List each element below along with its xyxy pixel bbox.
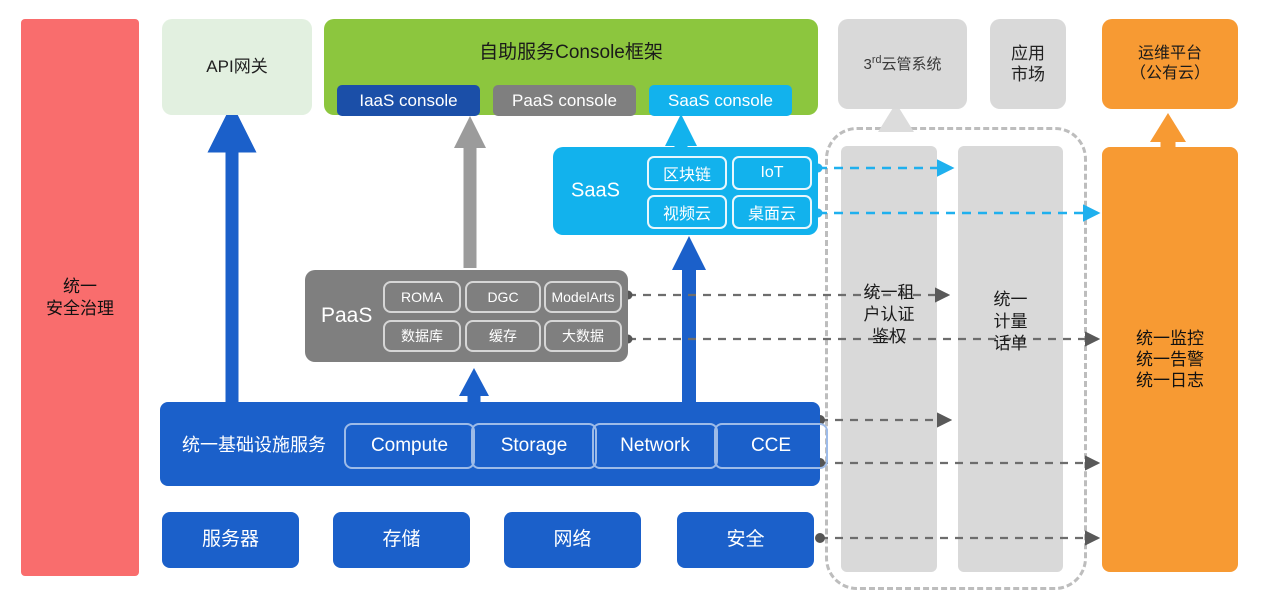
paas-chip-bigdata-label: 大数据 <box>562 326 604 346</box>
security-governance-label: 统一 安全治理 <box>46 276 114 319</box>
api-gateway-label: API网关 <box>206 56 267 77</box>
connector-dot <box>815 533 825 543</box>
saas-chip-video-cloud[interactable]: 视频云 <box>647 195 727 229</box>
iaas-chip-compute[interactable]: Compute <box>344 423 475 469</box>
paas-layer[interactable]: PaaS ROMA DGC ModelArts 数据库 缓存 大数据 <box>305 270 628 362</box>
console-chip-paas-label: PaaS console <box>512 91 617 111</box>
saas-chip-iot[interactable]: IoT <box>732 156 812 190</box>
paas-chip-cache[interactable]: 缓存 <box>465 320 541 352</box>
shared-service-column-auth <box>841 146 937 572</box>
third-party-cloud-mgmt-card[interactable]: 3rd云管系统 <box>838 19 967 109</box>
infra-card-storage-label: 存储 <box>382 528 420 552</box>
security-governance-panel[interactable]: 统一 安全治理 <box>21 19 139 576</box>
ops-platform-public-cloud-card[interactable]: 运维平台 （公有云） <box>1102 19 1238 109</box>
shared-service-column-metering <box>958 146 1063 572</box>
iaas-chip-storage-label: Storage <box>501 435 568 457</box>
infra-card-server[interactable]: 服务器 <box>162 512 299 568</box>
console-chip-saas-label: SaaS console <box>668 91 773 111</box>
shared-service-metering-label: 统一 计量 话单 <box>958 289 1063 355</box>
arrow-paas-to-console <box>454 116 486 268</box>
arrow-iaas-to-saas <box>672 236 706 404</box>
arrow-saas-to-console <box>665 114 697 150</box>
api-gateway-card[interactable]: API网关 <box>162 19 312 115</box>
console-chip-saas[interactable]: SaaS console <box>649 85 792 116</box>
unified-ops-panel-label: 统一监控 统一告警 统一日志 <box>1136 328 1204 392</box>
paas-chip-dgc-label: DGC <box>487 289 518 305</box>
arrow-iaas-to-paas <box>459 368 489 404</box>
infra-card-server-label: 服务器 <box>202 528 259 552</box>
architecture-diagram: 统一 安全治理 API网关 自助服务Console框架 IaaS console… <box>0 0 1265 605</box>
ops-platform-public-cloud-label: 运维平台 （公有云） <box>1130 44 1210 84</box>
iaas-chip-compute-label: Compute <box>371 435 448 457</box>
saas-layer[interactable]: SaaS 区块链 IoT 视频云 桌面云 <box>553 147 818 235</box>
paas-chip-database[interactable]: 数据库 <box>383 320 461 352</box>
saas-chip-desktop-cloud[interactable]: 桌面云 <box>732 195 812 229</box>
paas-chip-bigdata[interactable]: 大数据 <box>544 320 622 352</box>
iaas-chip-cce[interactable]: CCE <box>714 423 828 469</box>
infra-card-security[interactable]: 安全 <box>677 512 814 568</box>
paas-chip-roma[interactable]: ROMA <box>383 281 461 313</box>
saas-layer-label: SaaS <box>571 180 620 203</box>
saas-chip-desktop-cloud-label: 桌面云 <box>748 200 796 224</box>
app-market-label: 应用 市场 <box>1011 43 1045 86</box>
infra-card-network-label: 网络 <box>553 528 591 552</box>
paas-chip-cache-label: 缓存 <box>489 326 517 346</box>
arrow-iaas-to-api-gateway <box>216 117 248 404</box>
console-framework-title: 自助服务Console框架 <box>324 37 818 64</box>
iaas-chip-cce-label: CCE <box>751 435 791 457</box>
paas-layer-label: PaaS <box>321 304 372 328</box>
iaas-chip-network[interactable]: Network <box>592 423 718 469</box>
unified-ops-panel[interactable]: 统一监控 统一告警 统一日志 <box>1102 147 1238 572</box>
infra-card-security-label: 安全 <box>726 528 764 552</box>
infra-card-network[interactable]: 网络 <box>504 512 641 568</box>
paas-chip-modelarts-label: ModelArts <box>551 289 614 305</box>
paas-chip-database-label: 数据库 <box>401 326 443 346</box>
arrow-ops-panel-to-ops-platform <box>1150 113 1186 148</box>
saas-chip-video-cloud-label: 视频云 <box>663 200 711 224</box>
paas-chip-roma-label: ROMA <box>401 289 443 305</box>
iaas-chip-storage[interactable]: Storage <box>471 423 597 469</box>
console-chip-iaas-label: IaaS console <box>359 91 457 111</box>
iaas-layer[interactable]: 统一基础设施服务 Compute Storage Network CCE <box>160 402 820 486</box>
iaas-chip-network-label: Network <box>620 435 690 457</box>
saas-chip-iot-label: IoT <box>760 164 783 182</box>
infra-card-storage[interactable]: 存储 <box>333 512 470 568</box>
shared-service-auth-label: 统一租 户认证 鉴权 <box>841 282 937 348</box>
console-chip-paas[interactable]: PaaS console <box>493 85 636 116</box>
saas-chip-blockchain-label: 区块链 <box>663 161 711 185</box>
paas-chip-modelarts[interactable]: ModelArts <box>544 281 622 313</box>
app-market-card[interactable]: 应用 市场 <box>990 19 1066 109</box>
iaas-layer-label: 统一基础设施服务 <box>182 431 326 457</box>
console-chip-iaas[interactable]: IaaS console <box>337 85 480 116</box>
console-framework-card[interactable]: 自助服务Console框架 IaaS console PaaS console … <box>324 19 818 115</box>
third-party-cloud-mgmt-label: 3rd云管系统 <box>864 54 942 75</box>
paas-chip-dgc[interactable]: DGC <box>465 281 541 313</box>
saas-chip-blockchain[interactable]: 区块链 <box>647 156 727 190</box>
